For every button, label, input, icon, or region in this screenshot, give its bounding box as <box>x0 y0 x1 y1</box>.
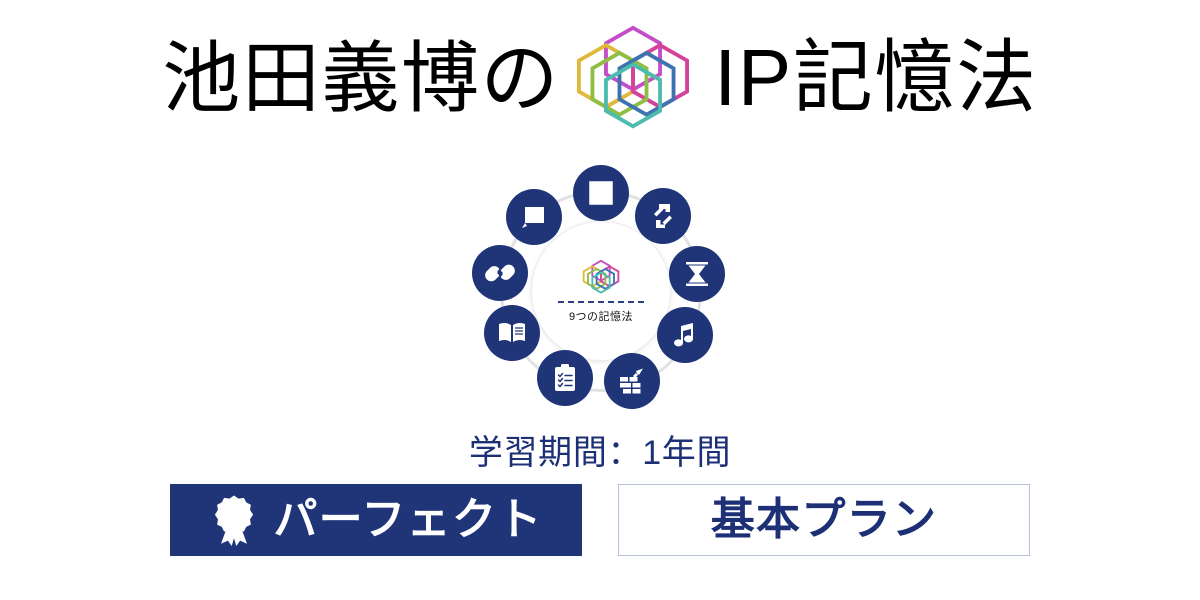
hexagon-lattice-logo-small <box>582 259 620 295</box>
wheel-node-music-note[interactable] <box>657 307 713 363</box>
wheel-node-picture-frame-apple[interactable] <box>506 189 562 245</box>
picture-frame-apple-icon <box>518 201 550 233</box>
plan-label-basic: 基本プラン <box>711 498 938 542</box>
clipboard-checklist-icon <box>549 362 581 394</box>
center-label: 9つの記憶法 <box>569 308 633 324</box>
wheel-node-open-book[interactable] <box>484 305 540 361</box>
study-period-text: 学習期間：1年間 <box>0 425 1200 474</box>
wheel-node-exchange-arrows[interactable] <box>635 188 691 244</box>
hourglass-icon <box>681 258 713 290</box>
memory-methods-wheel: 9つの記憶法 <box>470 160 732 422</box>
music-note-icon <box>669 319 701 351</box>
title-text-suffix: IP記憶法 <box>714 38 1038 118</box>
title-text-prefix: 池田義博の <box>162 39 560 117</box>
award-rosette-check-icon <box>209 494 259 546</box>
wheel-node-hourglass[interactable] <box>669 246 725 302</box>
plan-button-basic[interactable]: 基本プラン <box>618 484 1030 556</box>
hexagon-lattice-logo <box>574 22 692 134</box>
plan-button-perfect[interactable]: パーフェクト <box>170 484 582 556</box>
page-title: 池田義博の IP記憶法 <box>0 18 1200 138</box>
wheel-node-clipboard-checklist[interactable] <box>537 350 593 406</box>
plan-label-perfect: パーフェクト <box>273 498 542 542</box>
wheel-node-chain-link[interactable] <box>472 245 528 301</box>
center-divider <box>558 301 644 303</box>
brick-wall-trowel-icon <box>616 365 648 397</box>
wheel-node-brick-wall-trowel[interactable] <box>604 353 660 409</box>
wheel-node-picture-frame-elephant[interactable] <box>573 165 629 221</box>
plan-button-row: パーフェクト 基本プラン <box>0 484 1200 556</box>
chain-link-icon <box>484 257 516 289</box>
wheel-center-badge: 9つの記憶法 <box>531 221 671 361</box>
exchange-arrows-icon <box>647 200 679 232</box>
picture-frame-elephant-icon <box>585 177 617 209</box>
open-book-icon <box>496 317 528 349</box>
